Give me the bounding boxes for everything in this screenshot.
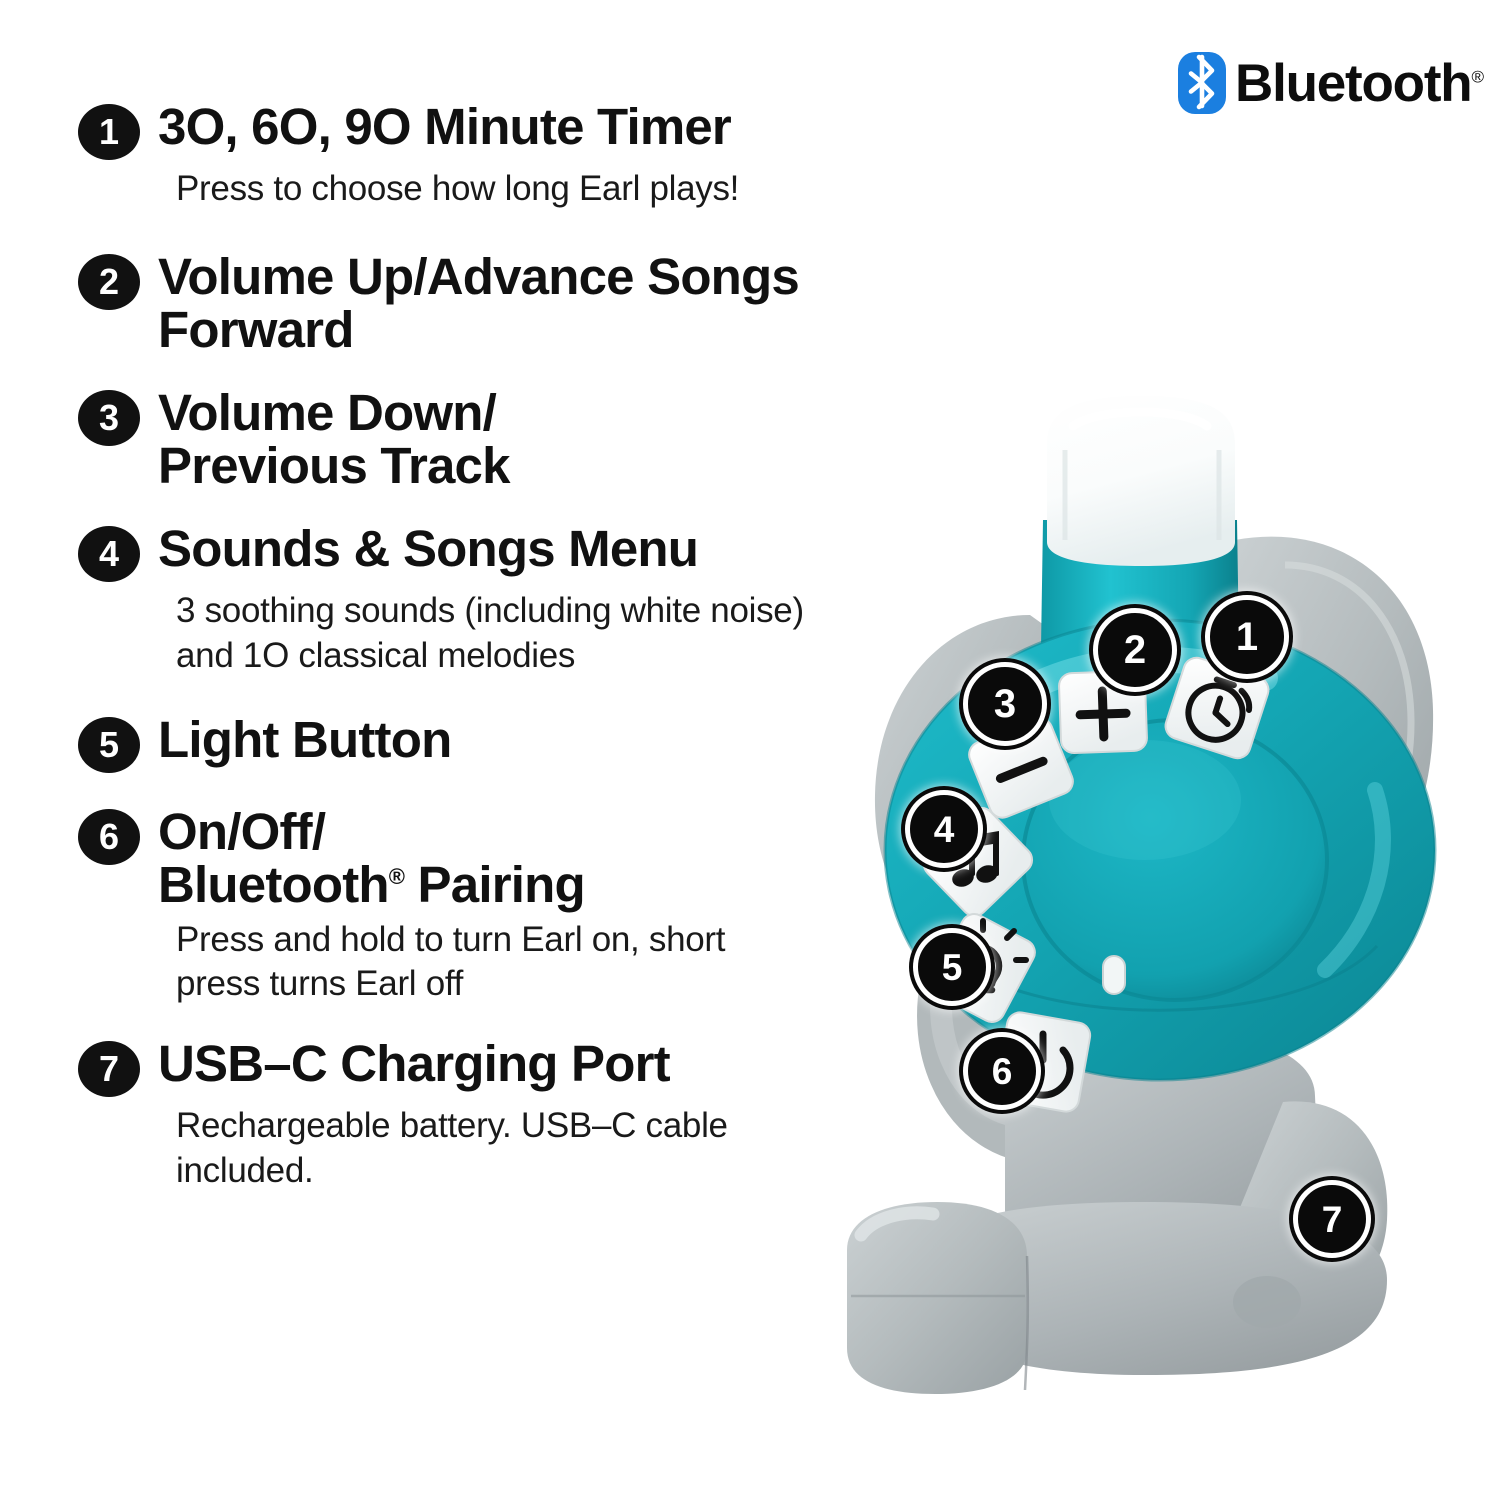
product-image: 2 1 3 4 5 6 7	[815, 390, 1500, 1450]
callout-badge-4: 4	[905, 790, 983, 868]
registered-trademark-icon: ®	[1471, 67, 1484, 86]
feature-badge-2: 2	[78, 254, 140, 310]
bluetooth-wordmark-text: Bluetooth	[1235, 54, 1471, 113]
callout-badge-1: 1	[1205, 595, 1289, 679]
feature-6-description: Press and hold to turn Earl on, short pr…	[176, 918, 776, 1008]
feature-item-6: 6 On/Off/Bluetooth® Pairing Press and ho…	[78, 805, 898, 1008]
feature-5-title: Light Button	[158, 713, 451, 766]
feature-item-1: 1 3O, 6O, 9O Minute Timer Press to choos…	[78, 100, 898, 212]
callout-badge-7: 7	[1293, 1180, 1371, 1258]
feature-3-head: 3 Volume Down/ Previous Track	[78, 386, 898, 492]
callout-badge-5: 5	[913, 928, 991, 1006]
feature-1-description: Press to choose how long Earl plays!	[176, 167, 898, 212]
bluetooth-icon	[1178, 52, 1226, 114]
feature-item-2: 2 Volume Up/Advance Songs Forward	[78, 250, 898, 356]
feature-item-4: 4 Sounds & Songs Menu 3 soothing sounds …	[78, 522, 898, 679]
bluetooth-wordmark: Bluetooth®	[1235, 57, 1484, 110]
feature-7-description: Rechargeable battery. USB–C cable includ…	[176, 1104, 736, 1194]
feature-2-head: 2 Volume Up/Advance Songs Forward	[78, 250, 898, 356]
feature-6-title: On/Off/Bluetooth® Pairing	[158, 805, 585, 911]
led-indicator	[1103, 956, 1125, 994]
feature-5-head: 5 Light Button	[78, 713, 898, 773]
feature-item-7: 7 USB–C Charging Port Rechargeable batte…	[78, 1037, 898, 1194]
feature-6-head: 6 On/Off/Bluetooth® Pairing	[78, 805, 898, 911]
feature-badge-4: 4	[78, 526, 140, 582]
feature-1-title: 3O, 6O, 9O Minute Timer	[158, 100, 731, 153]
feature-badge-3: 3	[78, 390, 140, 446]
feature-1-head: 1 3O, 6O, 9O Minute Timer	[78, 100, 898, 160]
feature-6-title-line1: On/Off/	[158, 803, 325, 860]
feature-7-head: 7 USB–C Charging Port	[78, 1037, 898, 1097]
feature-badge-5: 5	[78, 717, 140, 773]
feature-7-title: USB–C Charging Port	[158, 1037, 670, 1090]
feature-4-description: 3 soothing sounds (including white noise…	[176, 589, 836, 679]
feature-badge-6: 6	[78, 809, 140, 865]
callout-badge-6: 6	[963, 1032, 1041, 1110]
feature-6-title-line2: Bluetooth	[158, 856, 389, 913]
feature-item-3: 3 Volume Down/ Previous Track	[78, 386, 898, 492]
night-light-dome	[1047, 396, 1235, 566]
feature-badge-7: 7	[78, 1041, 140, 1097]
feature-badge-1: 1	[78, 104, 140, 160]
feature-4-head: 4 Sounds & Songs Menu	[78, 522, 898, 582]
callout-badge-2: 2	[1093, 608, 1177, 692]
registered-trademark-icon-2: ®	[389, 864, 404, 889]
feature-2-title: Volume Up/Advance Songs Forward	[158, 250, 898, 356]
feature-4-title: Sounds & Songs Menu	[158, 522, 698, 575]
infographic-page: Bluetooth® 1 3O, 6O, 9O Minute Timer Pre…	[0, 0, 1500, 1500]
callout-badge-3: 3	[963, 662, 1047, 746]
feature-item-5: 5 Light Button	[78, 713, 898, 773]
bluetooth-logo: Bluetooth®	[1178, 52, 1484, 114]
feature-6-title-line2-suffix: Pairing	[404, 856, 585, 913]
feature-3-title: Volume Down/ Previous Track	[158, 386, 510, 492]
feature-list: 1 3O, 6O, 9O Minute Timer Press to choos…	[78, 100, 898, 1198]
